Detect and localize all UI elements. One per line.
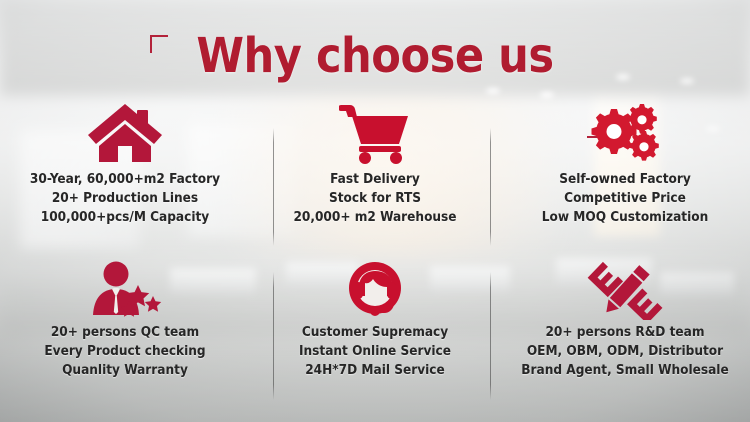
- why-choose-us-banner: Why choose us 30-Year, 60,000+m2 Factory…: [0, 0, 750, 422]
- person-stars-icon: [88, 257, 162, 323]
- feature-item-rd: 20+ persons R&D team OEM, OBM, ODM, Dist…: [500, 251, 750, 406]
- feature-line: Fast Delivery: [293, 170, 456, 189]
- headset-agent-icon: [344, 257, 406, 323]
- feature-text-delivery: Fast Delivery Stock for RTS 20,000+ m2 W…: [293, 170, 456, 227]
- feature-line: 20+ persons QC team: [44, 323, 205, 342]
- feature-item-qc: 20+ persons QC team Every Product checki…: [0, 251, 250, 406]
- column-divider: [273, 272, 274, 400]
- pencil-ruler-icon: [586, 257, 664, 323]
- feature-line: Quanlity Warranty: [44, 361, 205, 380]
- features-grid: 30-Year, 60,000+m2 Factory 20+ Productio…: [0, 96, 750, 406]
- gears-icon: [587, 96, 663, 170]
- feature-text-factory: 30-Year, 60,000+m2 Factory 20+ Productio…: [30, 170, 220, 227]
- feature-line: 20,000+ m2 Warehouse: [293, 208, 456, 227]
- feature-item-delivery: Fast Delivery Stock for RTS 20,000+ m2 W…: [250, 96, 500, 251]
- feature-line: Self-owned Factory: [542, 170, 708, 189]
- column-divider: [490, 128, 491, 246]
- feature-line: Every Product checking: [44, 342, 205, 361]
- feature-line: 20+ Production Lines: [30, 189, 220, 208]
- feature-line: 20+ persons R&D team: [521, 323, 728, 342]
- feature-line: Instant Online Service: [299, 342, 451, 361]
- feature-text-service: Customer Supremacy Instant Online Servic…: [299, 323, 451, 380]
- feature-item-service: Customer Supremacy Instant Online Servic…: [250, 251, 500, 406]
- shopping-cart-icon: [339, 96, 411, 170]
- feature-item-self-owned: Self-owned Factory Competitive Price Low…: [500, 96, 750, 251]
- feature-line: 100,000+pcs/M Capacity: [30, 208, 220, 227]
- feature-line: Competitive Price: [542, 189, 708, 208]
- house-factory-icon: [87, 96, 163, 170]
- feature-text-qc: 20+ persons QC team Every Product checki…: [44, 323, 205, 380]
- feature-line: 30-Year, 60,000+m2 Factory: [30, 170, 220, 189]
- page-title: Why choose us: [0, 28, 750, 84]
- feature-text-rd: 20+ persons R&D team OEM, OBM, ODM, Dist…: [521, 323, 728, 380]
- feature-line: Low MOQ Customization: [542, 208, 708, 227]
- feature-item-factory: 30-Year, 60,000+m2 Factory 20+ Productio…: [0, 96, 250, 251]
- column-divider: [273, 128, 274, 246]
- feature-line: 24H*7D Mail Service: [299, 361, 451, 380]
- feature-text-self-owned: Self-owned Factory Competitive Price Low…: [542, 170, 708, 227]
- column-divider: [490, 272, 491, 400]
- feature-line: Customer Supremacy: [299, 323, 451, 342]
- feature-line: OEM, OBM, ODM, Distributor: [521, 342, 728, 361]
- feature-line: Stock for RTS: [293, 189, 456, 208]
- feature-line: Brand Agent, Small Wholesale: [521, 361, 728, 380]
